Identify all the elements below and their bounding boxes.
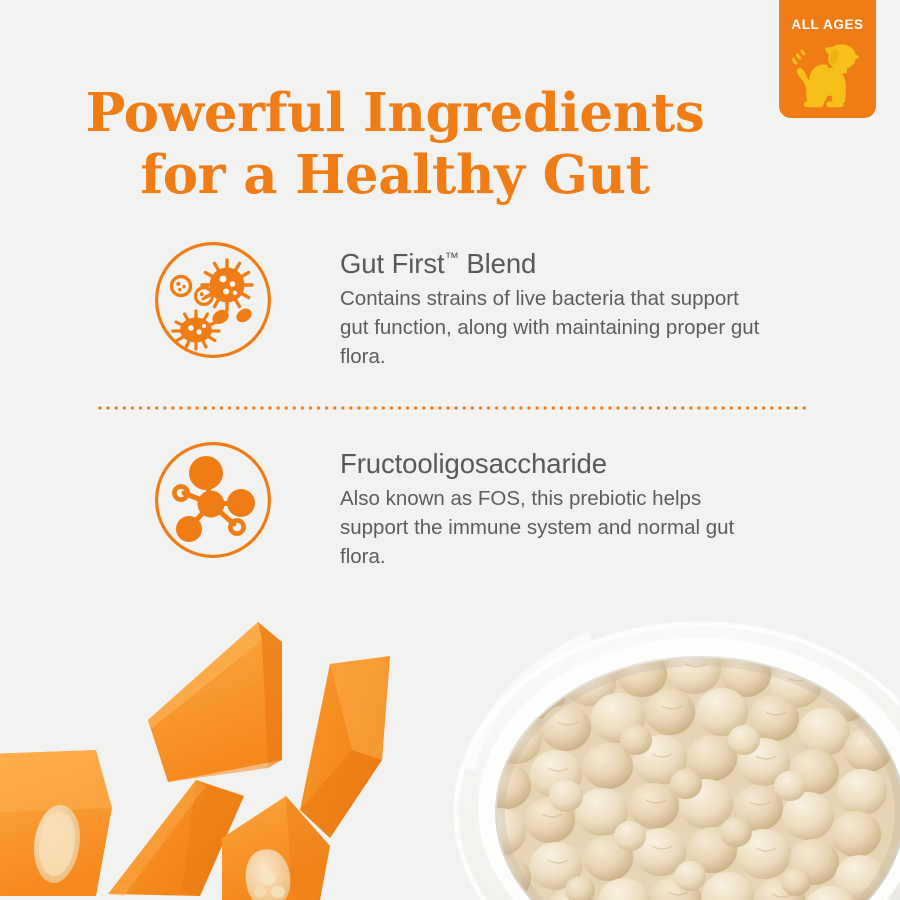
feature-title-main: Fructooligosaccharide (340, 448, 607, 479)
feature-description-fructooligosaccharide: Also known as FOS, this prebiotic helps … (340, 484, 760, 571)
headline-line-2: for a Healthy Gut (0, 144, 790, 206)
all-ages-badge: ALL AGES (779, 0, 876, 118)
infographic-page: ALL AGES (0, 0, 900, 900)
feature-text-gut-first-blend: Gut First™ Blend Contains strains of liv… (340, 241, 760, 372)
feature-row-gut-first-blend: Gut First™ Blend Contains strains of liv… (0, 241, 900, 372)
feature-title-fructooligosaccharide: Fructooligosaccharide (340, 449, 760, 479)
feature-title-suffix: Blend (459, 248, 536, 279)
feature-title-main: Gut First (340, 248, 445, 279)
feature-text-fructooligosaccharide: Fructooligosaccharide Also known as FOS,… (340, 441, 760, 572)
headline-line-1: Powerful Ingredients (86, 82, 705, 144)
molecule-icon (154, 441, 272, 559)
all-ages-badge-label: ALL AGES (779, 18, 876, 32)
page-headline: Powerful Ingredients for a Healthy Gut (0, 82, 790, 206)
dotted-divider (96, 406, 806, 410)
feature-title-gut-first-blend: Gut First™ Blend (340, 249, 760, 279)
trademark-symbol: ™ (445, 250, 459, 266)
feature-description-gut-first-blend: Contains strains of live bacteria that s… (340, 284, 760, 371)
bacteria-microbes-icon (154, 241, 272, 359)
feature-row-fructooligosaccharide: Fructooligosaccharide Also known as FOS,… (0, 441, 900, 572)
sitting-dog-icon (789, 42, 867, 108)
ingredient-photo-strip (0, 600, 900, 900)
